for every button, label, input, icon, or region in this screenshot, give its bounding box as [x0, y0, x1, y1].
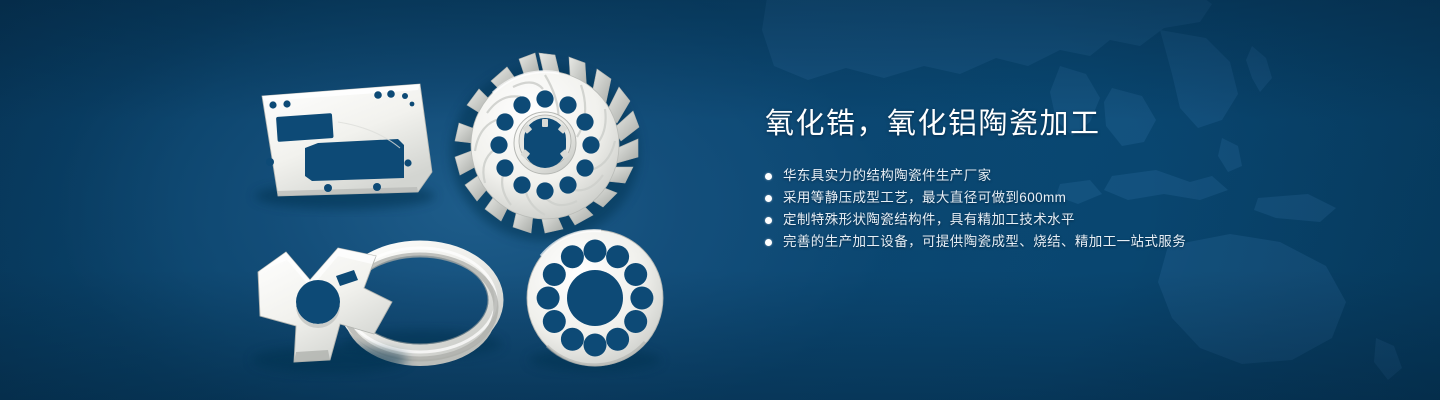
feature-text: 华东具实力的结构陶瓷件生产厂家 [783, 165, 992, 187]
page-title: 氧化锆，氧化铝陶瓷加工 [765, 105, 1385, 143]
ceramic-products-image [0, 0, 720, 400]
list-item: 华东具实力的结构陶瓷件生产厂家 [765, 165, 1385, 187]
banner-copy: 氧化锆，氧化铝陶瓷加工 华东具实力的结构陶瓷件生产厂家 采用等静压成型工艺，最大… [765, 105, 1385, 253]
list-item: 完善的生产加工设备，可提供陶瓷成型、烧结、精加工一站式服务 [765, 231, 1385, 253]
feature-text: 采用等静压成型工艺，最大直径可做到600mm [783, 187, 1066, 209]
ceramic-product-banner: 氧化锆，氧化铝陶瓷加工 华东具实力的结构陶瓷件生产厂家 采用等静压成型工艺，最大… [0, 0, 1440, 400]
feature-text: 完善的生产加工设备，可提供陶瓷成型、烧结、精加工一站式服务 [783, 231, 1186, 253]
ceramic-holed-disc-part [527, 230, 663, 372]
list-item: 定制特殊形状陶瓷结构件，具有精加工技术水平 [765, 209, 1385, 231]
feature-list: 华东具实力的结构陶瓷件生产厂家 采用等静压成型工艺，最大直径可做到600mm 定… [765, 165, 1385, 253]
list-item: 采用等静压成型工艺，最大直径可做到600mm [765, 187, 1385, 209]
feature-text: 定制特殊形状陶瓷结构件，具有精加工技术水平 [783, 209, 1075, 231]
ceramic-impeller-part [451, 53, 639, 241]
bullet-dot-icon [765, 173, 772, 180]
bullet-dot-icon [765, 239, 772, 246]
ceramic-cross-part [252, 248, 408, 374]
bullet-dot-icon [765, 217, 772, 224]
bullet-dot-icon [765, 195, 772, 202]
ceramic-plate-part [255, 84, 435, 209]
